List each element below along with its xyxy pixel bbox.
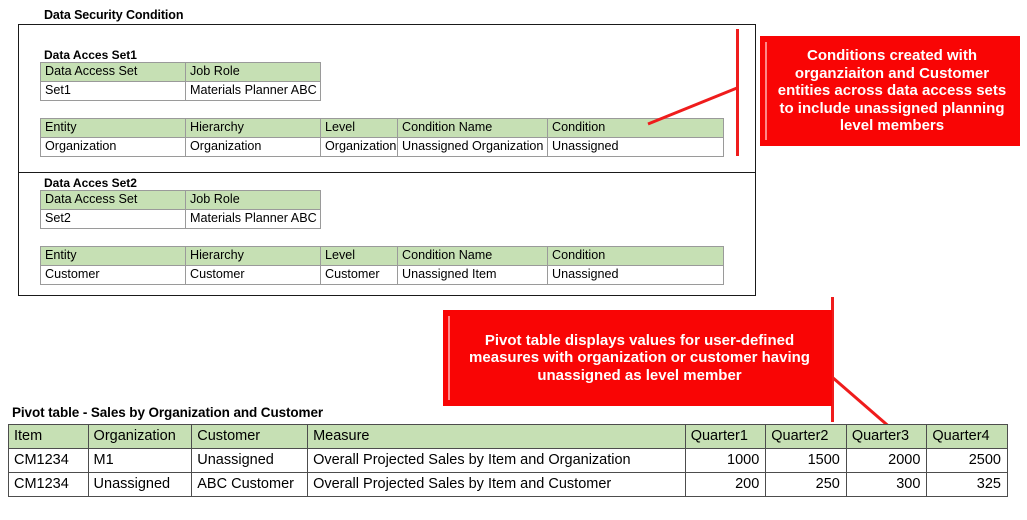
cell-item: CM1234 — [9, 473, 89, 497]
cell-quarter4: 325 — [927, 473, 1008, 497]
cell-measure: Overall Projected Sales by Item and Cust… — [308, 473, 686, 497]
cell-organization: M1 — [88, 449, 192, 473]
cell-quarter3: 2000 — [846, 449, 927, 473]
pivot-table: Item Organization Customer Measure Quart… — [8, 424, 1008, 497]
cell-quarter1: 200 — [685, 473, 766, 497]
table-row: CM1234 M1 Unassigned Overall Projected S… — [9, 449, 1008, 473]
column-header-measure: Measure — [308, 425, 686, 449]
column-header-quarter2: Quarter2 — [766, 425, 847, 449]
cell-measure: Overall Projected Sales by Item and Orga… — [308, 449, 686, 473]
column-header-quarter4: Quarter4 — [927, 425, 1008, 449]
cell-quarter3: 300 — [846, 473, 927, 497]
callout-2-text: Pivot table displays values for user-def… — [443, 332, 832, 385]
cell-quarter2: 250 — [766, 473, 847, 497]
table-row: CM1234 Unassigned ABC Customer Overall P… — [9, 473, 1008, 497]
callout-2-accent-rule — [448, 316, 450, 400]
column-header-item: Item — [9, 425, 89, 449]
cell-quarter1: 1000 — [685, 449, 766, 473]
callout-pivot-table-displays: Pivot table displays values for user-def… — [443, 310, 832, 406]
column-header-organization: Organization — [88, 425, 192, 449]
column-header-customer: Customer — [192, 425, 308, 449]
column-header-quarter1: Quarter1 — [685, 425, 766, 449]
cell-quarter2: 1500 — [766, 449, 847, 473]
cell-customer: ABC Customer — [192, 473, 308, 497]
column-header-quarter3: Quarter3 — [846, 425, 927, 449]
cell-organization: Unassigned — [88, 473, 192, 497]
cell-quarter4: 2500 — [927, 449, 1008, 473]
cell-customer: Unassigned — [192, 449, 308, 473]
cell-item: CM1234 — [9, 449, 89, 473]
pivot-header-row: Item Organization Customer Measure Quart… — [9, 425, 1008, 449]
pivot-table-title: Pivot table - Sales by Organization and … — [12, 405, 323, 420]
